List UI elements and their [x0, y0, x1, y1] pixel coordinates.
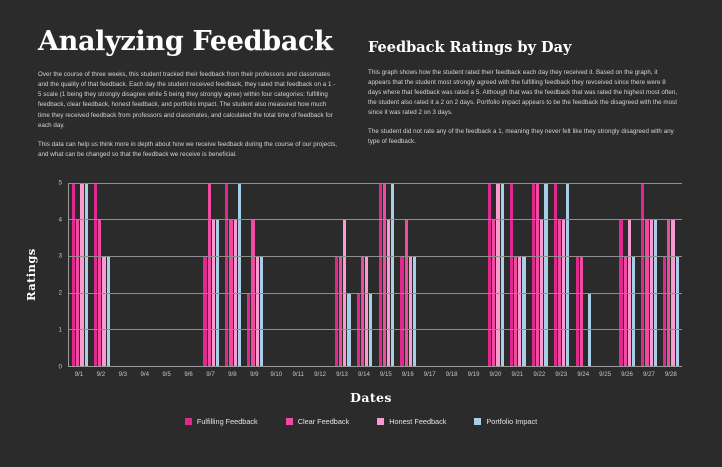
bar-group: [266, 183, 288, 366]
x-tick-label: 9/17: [419, 371, 441, 378]
bar-group: [332, 183, 354, 366]
x-tick-label: 9/21: [506, 371, 528, 378]
bar-group: [91, 183, 113, 366]
x-tick-label: 9/4: [134, 371, 156, 378]
bar: [576, 256, 579, 366]
bar: [409, 256, 412, 366]
x-tick-label: 9/9: [243, 371, 265, 378]
chart-block: Ratings 543210 9/19/29/39/49/59/69/79/89…: [0, 183, 722, 405]
bar: [536, 183, 539, 366]
infographic-page: Analyzing Feedback Over the course of th…: [0, 0, 722, 467]
bar-group: [551, 183, 573, 366]
gridline: [69, 293, 682, 294]
x-tick-label: 9/14: [353, 371, 375, 378]
bar-group: [354, 183, 376, 366]
bar: [501, 183, 504, 366]
x-tick-label: 9/6: [178, 371, 200, 378]
x-tick-label: 9/19: [463, 371, 485, 378]
header: Analyzing Feedback Over the course of th…: [0, 0, 722, 169]
y-tick-label: 1: [58, 326, 62, 333]
bar-group: [113, 183, 135, 366]
x-tick-label: 9/23: [550, 371, 572, 378]
intro-paragraph-1: Over the course of three weeks, this stu…: [38, 70, 338, 130]
bar: [365, 256, 368, 366]
y-axis-title: Ratings: [20, 183, 42, 367]
bar-group: [572, 183, 594, 366]
bar: [488, 183, 491, 366]
bar: [94, 183, 97, 366]
bar: [514, 256, 517, 366]
bar-group: [135, 183, 157, 366]
x-tick-label: 9/1: [68, 371, 90, 378]
bar-group: [69, 183, 91, 366]
y-tick-label: 5: [58, 179, 62, 186]
chart-legend: Fulfilling FeedbackClear FeedbackHonest …: [0, 417, 722, 426]
x-tick-label: 9/13: [331, 371, 353, 378]
legend-item[interactable]: Clear Feedback: [286, 417, 350, 426]
x-axis-ticks: 9/19/29/39/49/59/69/79/89/99/109/119/129…: [68, 367, 682, 378]
x-axis-title: Dates: [60, 390, 682, 405]
gridline: [69, 329, 682, 330]
bar: [256, 256, 259, 366]
bar: [413, 256, 416, 366]
legend-label: Clear Feedback: [298, 417, 350, 426]
bar-group: [222, 183, 244, 366]
bar: [391, 183, 394, 366]
bar: [379, 183, 382, 366]
x-tick-label: 9/12: [309, 371, 331, 378]
bar: [335, 256, 338, 366]
bar: [566, 183, 569, 366]
intro-paragraph-2: This data can help us think more in dept…: [38, 140, 338, 160]
y-axis-ticks: 543210: [42, 183, 68, 367]
gridline: [69, 183, 682, 184]
bar-group: [419, 183, 441, 366]
bar-group: [244, 183, 266, 366]
chart-row: Ratings 543210: [20, 183, 682, 367]
intro-column: Analyzing Feedback Over the course of th…: [38, 28, 338, 169]
bar: [80, 183, 83, 366]
bar: [518, 256, 521, 366]
gridline: [69, 256, 682, 257]
bar: [624, 256, 627, 366]
y-tick-label: 2: [58, 290, 62, 297]
x-tick-label: 9/10: [265, 371, 287, 378]
chart-paragraph-1: This graph shows how the student rated t…: [368, 68, 678, 118]
bar-group: [157, 183, 179, 366]
legend-item[interactable]: Fulfilling Feedback: [185, 417, 258, 426]
x-tick-label: 9/20: [485, 371, 507, 378]
bar: [225, 183, 228, 366]
chart-description-column: Feedback Ratings by Day This graph shows…: [368, 28, 678, 169]
x-tick-label: 9/11: [287, 371, 309, 378]
legend-label: Honest Feedback: [389, 417, 446, 426]
bar: [522, 256, 525, 366]
bar: [383, 183, 386, 366]
bar-group: [441, 183, 463, 366]
bar: [676, 256, 679, 366]
y-tick-label: 4: [58, 216, 62, 223]
bar-group: [507, 183, 529, 366]
bar: [102, 256, 105, 366]
legend-swatch-icon: [185, 418, 192, 425]
x-tick-label: 9/3: [112, 371, 134, 378]
legend-swatch-icon: [377, 418, 384, 425]
x-tick-label: 9/27: [638, 371, 660, 378]
bar: [532, 183, 535, 366]
bar-group: [616, 183, 638, 366]
bar: [400, 256, 403, 366]
bar: [641, 183, 644, 366]
plot-area: [68, 183, 682, 367]
bar: [496, 183, 499, 366]
bar-group: [529, 183, 551, 366]
x-tick-label: 9/22: [528, 371, 550, 378]
bar: [238, 183, 241, 366]
x-tick-label: 9/28: [660, 371, 682, 378]
bar: [72, 183, 75, 366]
x-tick-label: 9/25: [594, 371, 616, 378]
legend-label: Portfolio Impact: [486, 417, 537, 426]
bar: [361, 256, 364, 366]
bar-group: [310, 183, 332, 366]
bar: [339, 256, 342, 366]
bar: [554, 183, 557, 366]
x-tick-label: 9/7: [200, 371, 222, 378]
chart-paragraph-2: The student did not rate any of the feed…: [368, 127, 678, 147]
bar: [208, 183, 211, 366]
page-title: Analyzing Feedback: [38, 28, 338, 56]
x-tick-label: 9/16: [397, 371, 419, 378]
bar: [663, 256, 666, 366]
bar: [85, 183, 88, 366]
bar-group: [178, 183, 200, 366]
bar: [580, 256, 583, 366]
bar-group: [485, 183, 507, 366]
bar-group: [288, 183, 310, 366]
x-tick-label: 9/8: [221, 371, 243, 378]
x-tick-label: 9/26: [616, 371, 638, 378]
chart-title: Feedback Ratings by Day: [368, 40, 678, 56]
bar: [544, 183, 547, 366]
bar-group: [463, 183, 485, 366]
bar: [203, 256, 206, 366]
legend-item[interactable]: Honest Feedback: [377, 417, 446, 426]
x-tick-label: 9/15: [375, 371, 397, 378]
x-tick-label: 9/18: [441, 371, 463, 378]
x-tick-label: 9/5: [156, 371, 178, 378]
legend-swatch-icon: [474, 418, 481, 425]
y-tick-label: 0: [58, 363, 62, 370]
bar-group: [375, 183, 397, 366]
bar: [632, 256, 635, 366]
bar: [510, 183, 513, 366]
gridline: [69, 219, 682, 220]
bar-group: [594, 183, 616, 366]
bar-group: [638, 183, 660, 366]
x-tick-label: 9/2: [90, 371, 112, 378]
bar-group: [397, 183, 419, 366]
bar-series-container: [69, 183, 682, 366]
x-tick-label: 9/24: [572, 371, 594, 378]
bar-group: [660, 183, 682, 366]
legend-label: Fulfilling Feedback: [197, 417, 258, 426]
y-tick-label: 3: [58, 253, 62, 260]
bar: [260, 256, 263, 366]
legend-item[interactable]: Portfolio Impact: [474, 417, 537, 426]
legend-swatch-icon: [286, 418, 293, 425]
bar-group: [200, 183, 222, 366]
bar: [107, 256, 110, 366]
